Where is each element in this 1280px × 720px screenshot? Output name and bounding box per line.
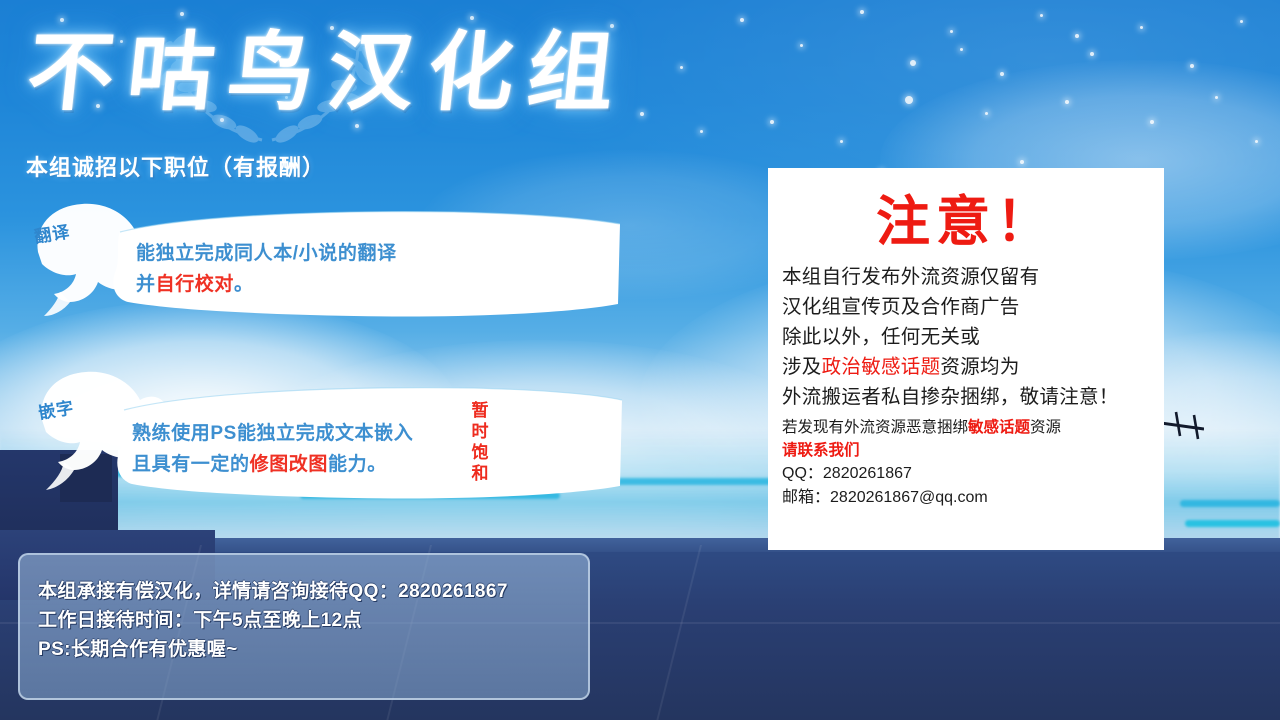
service-info-panel: 本组承接有偿汉化，详情请咨询接待QQ：2820261867 工作日接待时间：下午… — [18, 553, 590, 700]
service-info-line: PS:长期合作有优惠喔~ — [38, 635, 588, 664]
recruitment-banner-typesetter: 嵌字 熟练使用PS能独立完成文本嵌入且具有一定的修图改图能力。 — [24, 368, 634, 508]
email-value: 2820261867@qq.com — [830, 489, 988, 506]
stamp-char: 暂 — [470, 400, 490, 421]
position-requirements-translator: 能独立完成同人本/小说的翻译并自行校对。 — [136, 238, 397, 300]
text-run: 并 — [136, 274, 156, 295]
text-run: 资源均为 — [940, 356, 1019, 378]
poster-canvas: 不咕鸟汉化组 本组诚招以下职位（有报酬） 翻译 能独立完成同人本/小说的翻译并自… — [0, 0, 1280, 720]
text-run: 涉及 — [782, 356, 822, 378]
text-line: 能独立完成同人本/小说的翻译 — [136, 238, 397, 269]
text-run: 除此以外，任何无关或 — [782, 326, 980, 348]
text-run: 能独立完成同人本/小说的翻译 — [136, 243, 397, 264]
email-label: 邮箱： — [782, 489, 830, 506]
notice-contact-email: 邮箱：2820261867@qq.com — [768, 486, 1164, 510]
notice-warning: 若发现有外流资源恶意捆绑敏感话题资源请联系我们 — [768, 412, 1164, 462]
text-line: 除此以外，任何无关或 — [782, 322, 1150, 352]
text-line: 涉及政治敏感话题资源均为 — [782, 352, 1150, 382]
text-run: 汉化组宣传页及合作商广告 — [782, 296, 1020, 318]
text-line: 且具有一定的修图改图能力。 — [132, 449, 413, 480]
text-line: 若发现有外流资源恶意捆绑敏感话题资源 — [782, 416, 1150, 439]
recruitment-banner-translator: 翻译 能独立完成同人本/小说的翻译并自行校对。 — [24, 198, 634, 326]
stamp-char: 和 — [470, 463, 490, 484]
page-title: 不咕鸟汉化组 — [21, 8, 635, 138]
text-run: 敏感话题 — [968, 419, 1030, 436]
text-run: 。 — [234, 274, 254, 295]
text-run: 请联系我们 — [782, 442, 860, 459]
text-line: 并自行校对。 — [136, 269, 397, 300]
text-run: 若发现有外流资源恶意捆绑 — [782, 419, 968, 436]
text-line: 外流搬运者私自掺杂捆绑，敬请注意！ — [782, 382, 1150, 412]
service-info-line: 工作日接待时间：下午5点至晚上12点 — [38, 606, 588, 635]
text-run: 且具有一定的 — [132, 454, 250, 475]
text-run: 本组自行发布外流资源仅留有 — [782, 266, 1039, 288]
text-run: 熟练使用PS能独立完成文本嵌入 — [132, 423, 413, 444]
text-run: 资源 — [1030, 419, 1061, 436]
title-block: 不咕鸟汉化组 — [22, 6, 762, 146]
qq-label: QQ： — [782, 465, 823, 482]
status-stamp-saturated: 暂时饱和 — [470, 400, 490, 484]
text-run: 能力。 — [328, 454, 387, 475]
text-run: 政治敏感话题 — [822, 356, 941, 378]
page-subtitle: 本组诚招以下职位（有报酬） — [26, 150, 325, 182]
text-run: 修图改图 — [250, 454, 328, 475]
text-run: 外流搬运者私自掺杂捆绑，敬请注意！ — [782, 386, 1119, 408]
text-line: 请联系我们 — [782, 439, 1150, 462]
text-line: 熟练使用PS能独立完成文本嵌入 — [132, 418, 413, 449]
stamp-char: 时 — [470, 421, 490, 442]
notice-body: 本组自行发布外流资源仅留有汉化组宣传页及合作商广告除此以外，任何无关或涉及政治敏… — [768, 262, 1164, 412]
position-requirements-typesetter: 熟练使用PS能独立完成文本嵌入且具有一定的修图改图能力。 — [132, 418, 413, 480]
stamp-char: 饱 — [470, 442, 490, 463]
text-line: 汉化组宣传页及合作商广告 — [782, 292, 1150, 322]
notice-panel: 注意！ 本组自行发布外流资源仅留有汉化组宣传页及合作商广告除此以外，任何无关或涉… — [768, 168, 1164, 550]
service-info-line: 本组承接有偿汉化，详情请咨询接待QQ：2820261867 — [38, 577, 588, 606]
notice-contact-qq: QQ：2820261867 — [768, 462, 1164, 486]
text-run: 自行校对 — [156, 274, 234, 295]
service-info-lines: 本组承接有偿汉化，详情请咨询接待QQ：2820261867 工作日接待时间：下午… — [20, 555, 588, 664]
text-line: 本组自行发布外流资源仅留有 — [782, 262, 1150, 292]
qq-value: 2820261867 — [823, 465, 912, 482]
notice-heading: 注意！ — [768, 192, 1164, 252]
